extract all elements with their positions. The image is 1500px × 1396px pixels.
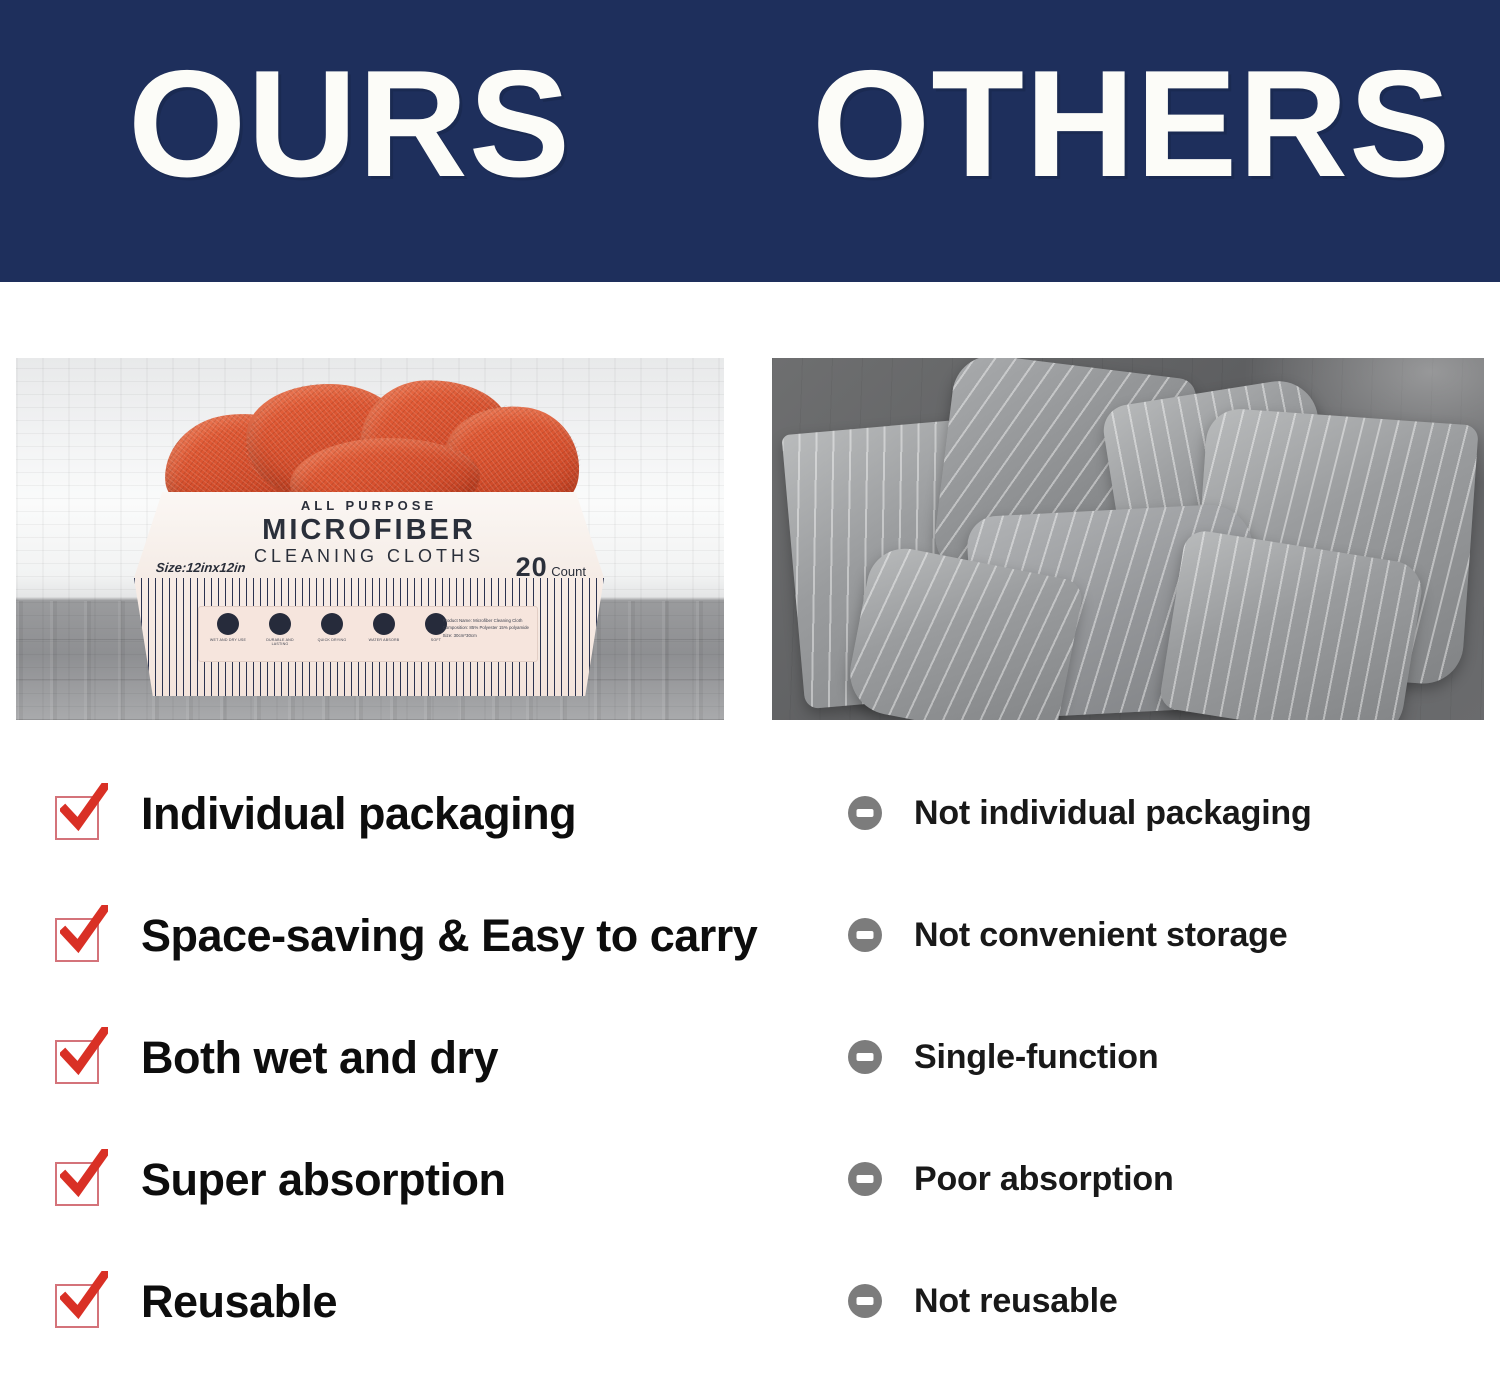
list-item-label: Individual packaging	[141, 791, 576, 836]
list-item: Not individual packaging	[848, 752, 1458, 874]
list-item-label: Not individual packaging	[914, 796, 1312, 830]
ours-feature-list: Individual packaging Space-saving & Easy…	[55, 752, 755, 1362]
photo-row: ALL PURPOSE MICROFIBER CLEANING CLOTHS S…	[0, 282, 1500, 752]
product-photo-others	[772, 358, 1484, 720]
minus-circle-icon	[848, 1040, 882, 1074]
list-item: Individual packaging	[55, 752, 755, 874]
list-item: Both wet and dry	[55, 996, 755, 1118]
list-item-label: Reusable	[141, 1279, 337, 1324]
list-item-label: Poor absorption	[914, 1162, 1174, 1196]
minus-circle-icon	[848, 1162, 882, 1196]
package-front-panel: ALL PURPOSE MICROFIBER CLEANING CLOTHS S…	[134, 492, 604, 578]
package-feature-icon-strip: WET AND DRY USE DURABLE AND LASTING QUIC…	[207, 613, 457, 647]
check-glyph	[60, 783, 108, 835]
package-line-microfiber: MICROFIBER	[134, 514, 604, 547]
list-item: Poor absorption	[848, 1118, 1458, 1240]
product-package: ALL PURPOSE MICROFIBER CLEANING CLOTHS S…	[134, 492, 604, 696]
package-size-text: Size:12inx12in	[155, 560, 246, 575]
check-glyph	[60, 1271, 108, 1323]
list-item: Super absorption	[55, 1118, 755, 1240]
checkmark-icon	[55, 1278, 101, 1324]
minus-circle-icon	[848, 1284, 882, 1318]
durable-icon: DURABLE AND LASTING	[259, 613, 301, 647]
list-item-label: Both wet and dry	[141, 1035, 498, 1080]
checkmark-icon	[55, 790, 101, 836]
quick-drying-icon: QUICK DRYING	[311, 613, 353, 647]
list-item: Reusable	[55, 1240, 755, 1362]
package-info-label: WET AND DRY USE DURABLE AND LASTING QUIC…	[198, 606, 538, 662]
product-photo-ours: ALL PURPOSE MICROFIBER CLEANING CLOTHS S…	[16, 358, 724, 720]
package-striped-body: WET AND DRY USE DURABLE AND LASTING QUIC…	[134, 578, 604, 696]
wet-dry-icon: WET AND DRY USE	[207, 613, 249, 647]
package-count-number: 20	[516, 552, 548, 582]
header-title-others: OTHERS	[812, 48, 1451, 200]
minus-circle-icon	[848, 796, 882, 830]
checkmark-icon	[55, 1156, 101, 1202]
list-item-label: Not reusable	[914, 1284, 1118, 1318]
checkmark-icon	[55, 1034, 101, 1080]
list-item-label: Single-function	[914, 1040, 1158, 1074]
others-feature-list: Not individual packaging Not convenient …	[848, 752, 1458, 1362]
list-item-label: Not convenient storage	[914, 918, 1287, 952]
package-line-all-purpose: ALL PURPOSE	[134, 498, 604, 513]
package-count-word: Count	[551, 564, 586, 579]
comparison-list-area: Individual packaging Space-saving & Easy…	[0, 752, 1500, 1396]
list-item: Not convenient storage	[848, 874, 1458, 996]
header-title-ours: OURS	[128, 48, 571, 200]
check-glyph	[60, 1149, 108, 1201]
package-product-info: Product Name: Microfiber Cleaning Cloth …	[443, 617, 529, 639]
list-item-label: Space-saving & Easy to carry	[141, 913, 757, 958]
check-glyph	[60, 905, 108, 957]
list-item-label: Super absorption	[141, 1157, 506, 1202]
water-absorb-icon: WATER ABSORB	[363, 613, 405, 647]
list-item: Not reusable	[848, 1240, 1458, 1362]
minus-circle-icon	[848, 918, 882, 952]
header-bar: OURS OTHERS	[0, 0, 1500, 282]
comparison-infographic: OURS OTHERS ALL PURPOSE MICROFIBER CLEAN…	[0, 0, 1500, 1396]
checkmark-icon	[55, 912, 101, 958]
list-item: Space-saving & Easy to carry	[55, 874, 755, 996]
check-glyph	[60, 1027, 108, 1079]
list-item: Single-function	[848, 996, 1458, 1118]
